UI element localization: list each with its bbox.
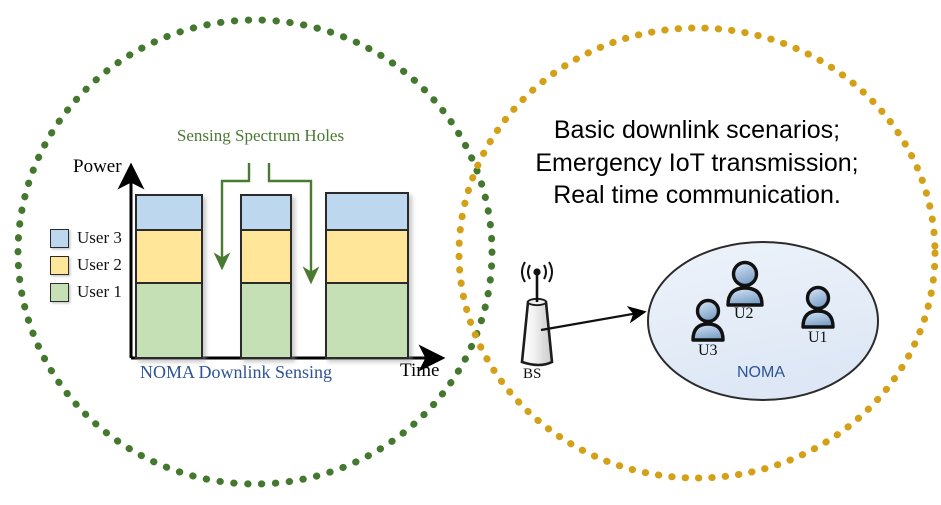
stacked-bar-slot-2 xyxy=(241,195,291,358)
base-station-group xyxy=(522,262,552,365)
legend-item-user3: User 3 xyxy=(50,228,122,248)
legend-label: User 2 xyxy=(77,255,122,275)
noma-cluster-label: NOMA xyxy=(737,364,785,382)
diagram-svg xyxy=(0,0,941,505)
legend-swatch-icon xyxy=(50,229,69,248)
stacked-bar-slot-3 xyxy=(326,193,408,358)
legend-item-user1: User 1 xyxy=(50,282,122,302)
legend-label: User 1 xyxy=(77,282,122,302)
stacked-bar-slot-1 xyxy=(136,195,202,358)
legend-swatch-icon xyxy=(50,256,69,275)
bar-segment-user1 xyxy=(241,283,291,358)
bar-segment-user2 xyxy=(241,230,291,283)
legend-swatch-icon xyxy=(50,283,69,302)
bar-segment-user2 xyxy=(326,230,408,283)
figure-canvas: Sensing Spectrum Holes Power Time NOMA D… xyxy=(0,0,941,505)
user-label-u1: U1 xyxy=(808,329,828,347)
chart-legend: User 3 User 2 User 1 xyxy=(50,228,122,302)
bar-segment-user3 xyxy=(136,195,202,230)
legend-item-user2: User 2 xyxy=(50,255,122,275)
bar-segment-user3 xyxy=(326,193,408,230)
y-axis-label: Power xyxy=(73,156,122,178)
chart-caption: NOMA Downlink Sensing xyxy=(140,362,332,383)
scenario-text-block: Basic downlink scenarios; Emergency IoT … xyxy=(497,114,897,212)
x-axis-label: Time xyxy=(400,360,439,382)
user-label-u3: U3 xyxy=(698,342,718,360)
bar-segment-user3 xyxy=(241,195,291,230)
application-scenario-circle xyxy=(459,28,935,478)
bar-segment-user1 xyxy=(136,283,202,358)
scenario-line-1: Basic downlink scenarios; xyxy=(497,114,897,147)
downlink-arrow xyxy=(541,313,638,330)
bar-segment-user2 xyxy=(136,230,202,283)
scenario-line-3: Real time communication. xyxy=(497,179,897,212)
cell-tower-icon xyxy=(522,302,552,365)
user-label-u2: U2 xyxy=(734,305,754,323)
scenario-line-2: Emergency IoT transmission; xyxy=(497,147,897,180)
base-station-label: BS xyxy=(523,366,541,383)
bar-segment-user1 xyxy=(326,283,408,358)
legend-label: User 3 xyxy=(77,228,122,248)
spectrum-hole-label: Sensing Spectrum Holes xyxy=(173,126,348,146)
